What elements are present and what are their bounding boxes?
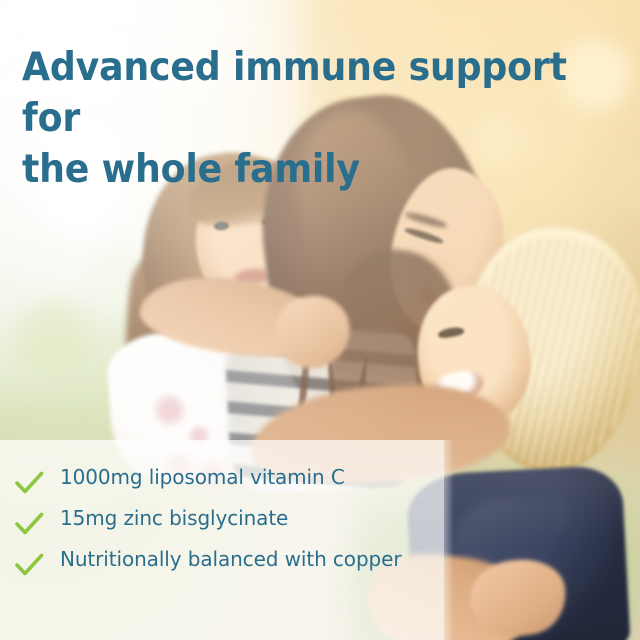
list-item: Nutritionally balanced with copper — [0, 546, 444, 580]
check-icon — [14, 509, 44, 539]
check-icon — [14, 468, 44, 498]
check-icon — [14, 550, 44, 580]
girl-iris-left — [218, 222, 225, 229]
page-title: Advanced immune support for the whole fa… — [22, 42, 586, 195]
benefits-list: 1000mg liposomal vitamin C 15mg zinc bis… — [0, 440, 444, 640]
benefits-panel-edge-fade — [444, 440, 454, 640]
benefit-label: 1000mg liposomal vitamin C — [60, 464, 345, 491]
benefit-label: Nutritionally balanced with copper — [60, 546, 401, 573]
list-item: 15mg zinc bisglycinate — [0, 505, 444, 539]
bokeh-dot — [16, 300, 90, 374]
benefit-label: 15mg zinc bisglycinate — [60, 505, 288, 532]
list-item: 1000mg liposomal vitamin C — [0, 464, 444, 498]
promo-banner: Advanced immune support for the whole fa… — [0, 0, 640, 640]
